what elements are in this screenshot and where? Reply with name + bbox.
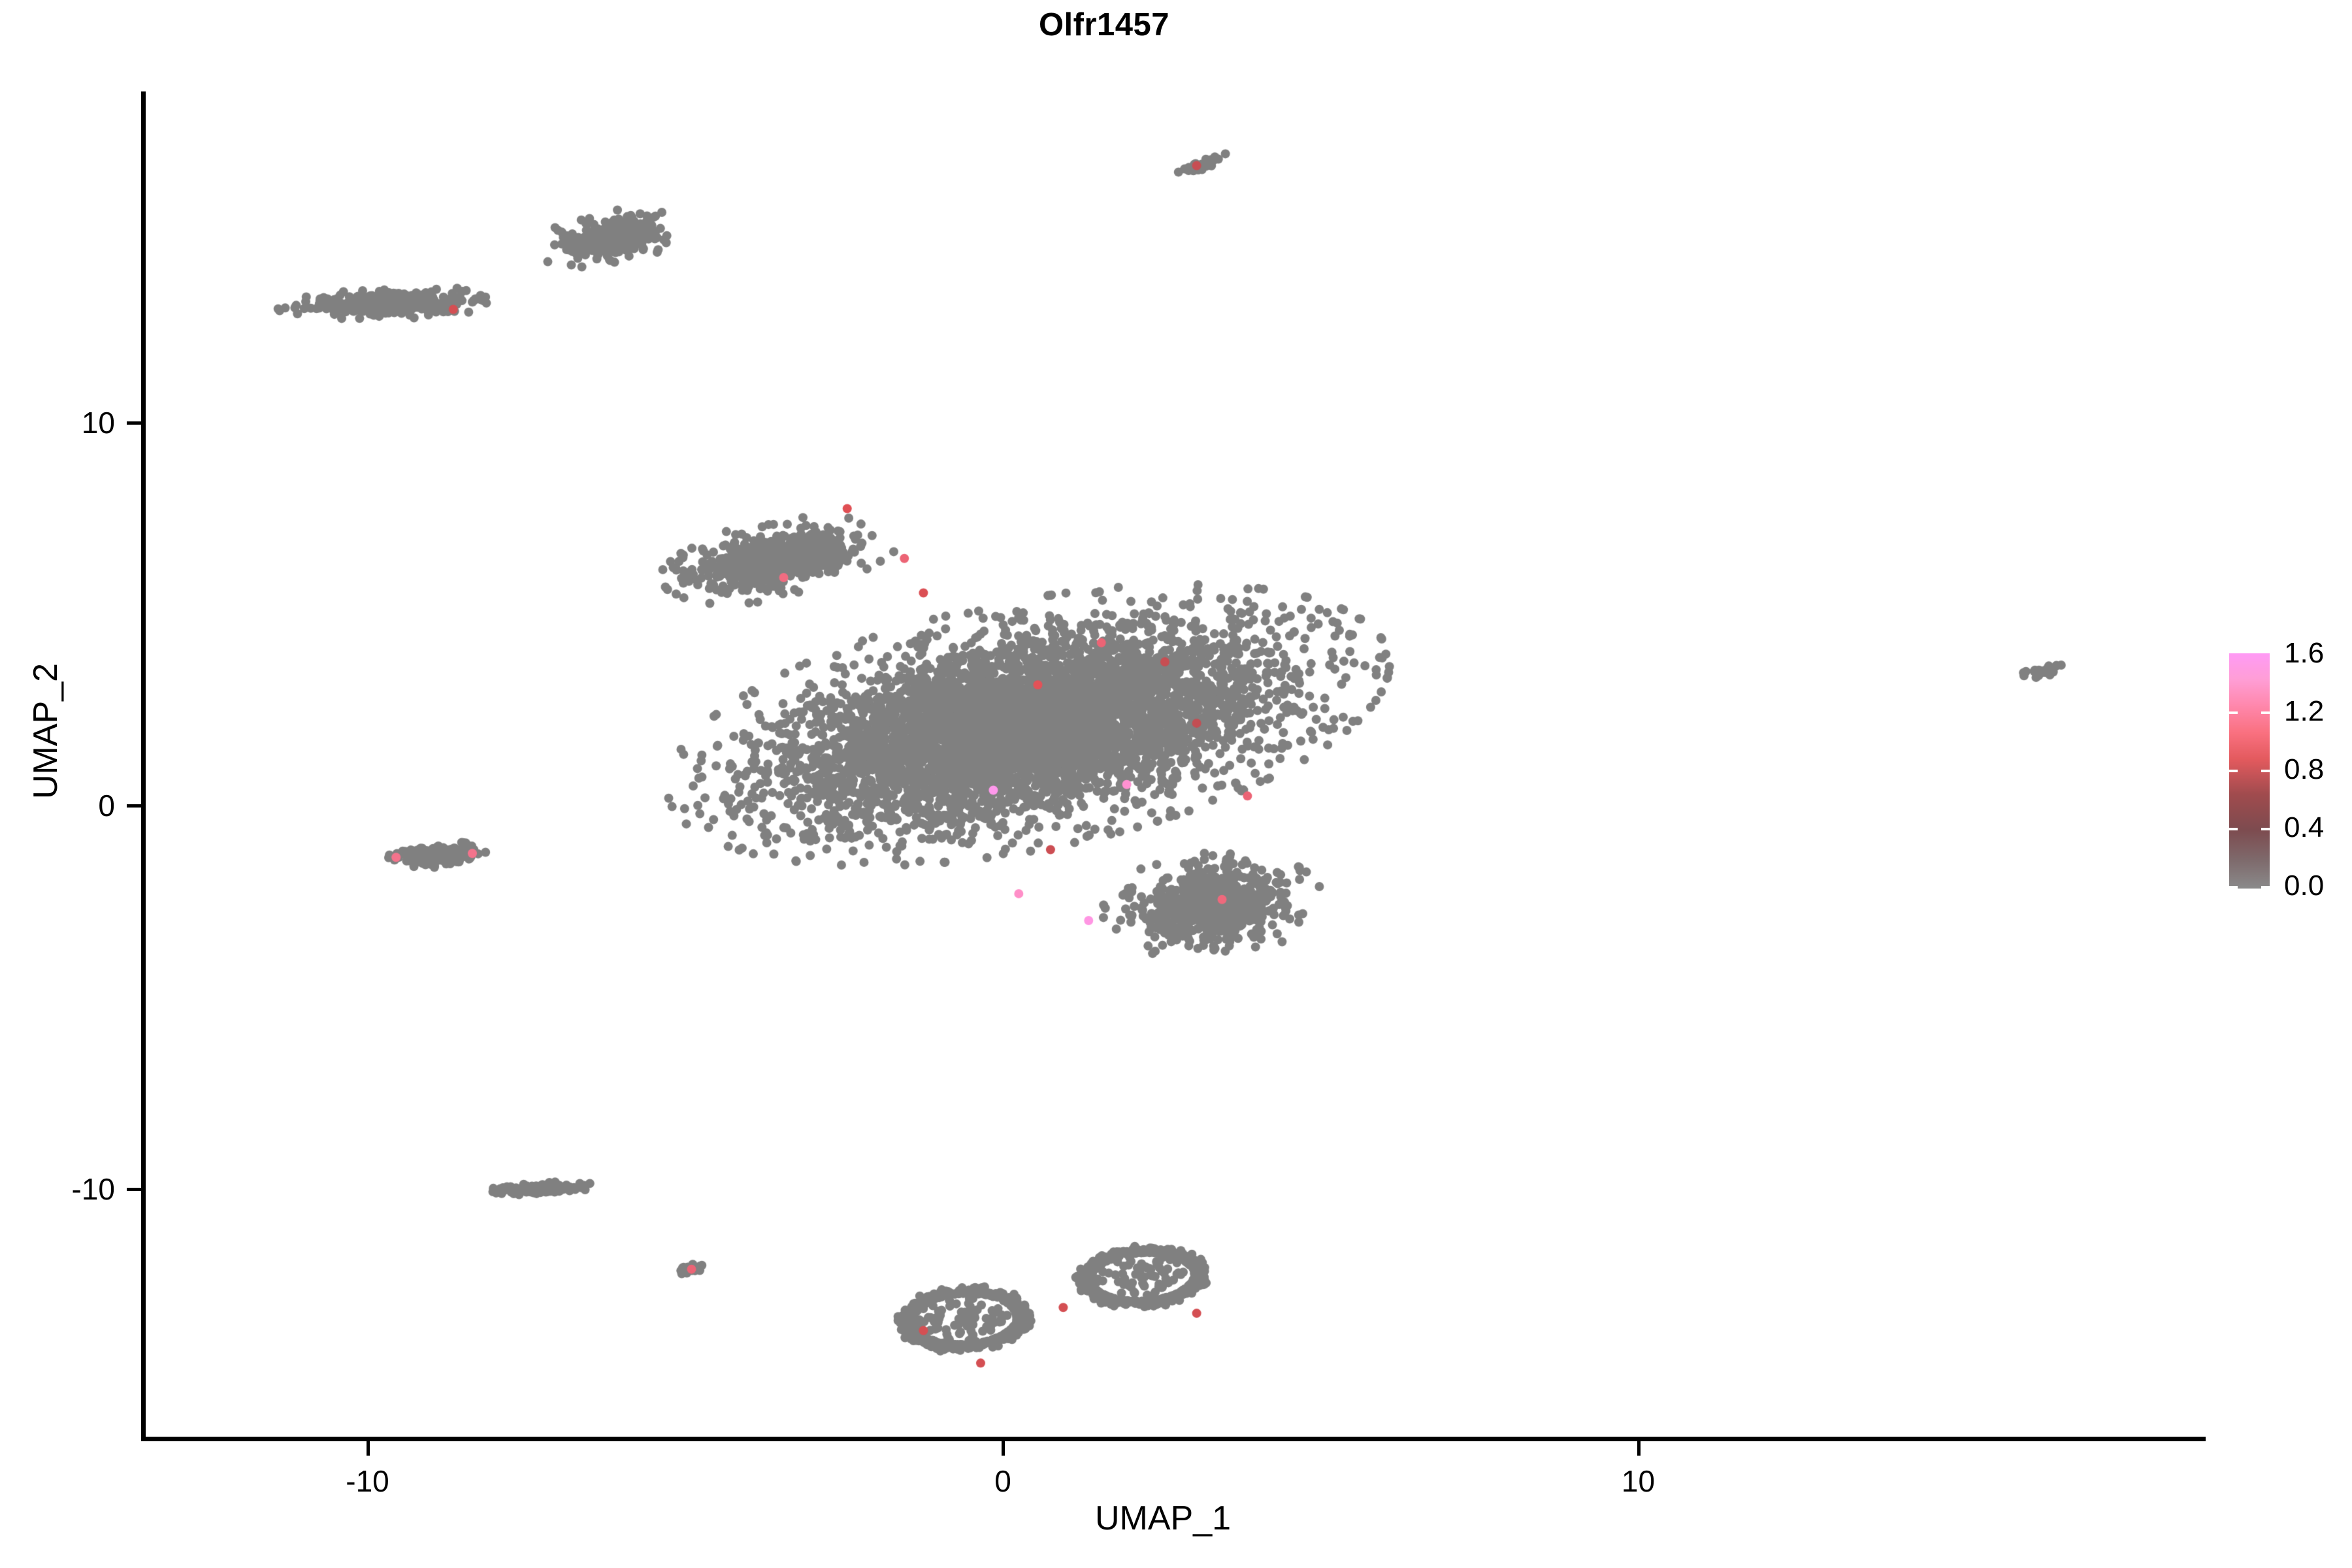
legend-tick-mark [2229,711,2238,714]
legend-label: 1.6 [2284,639,2324,668]
y-axis-line [141,91,146,1441]
legend-tick-mark [2261,886,2270,889]
legend-tick-mark [2229,828,2238,830]
scatter-points-layer[interactable] [144,91,2202,1439]
y-tick-label: 10 [10,408,115,438]
legend-label: 0.8 [2284,755,2324,784]
legend-label: 0.4 [2284,813,2324,842]
x-tick-label: 10 [1573,1466,1704,1496]
legend-tick-mark [2229,770,2238,772]
y-tick-mark [127,1188,141,1191]
color-legend[interactable]: 1.61.20.80.40.0 [2229,653,2347,895]
x-tick-mark [1002,1441,1005,1456]
legend-tick-mark [2229,886,2238,889]
legend-tick-mark [2261,770,2270,772]
y-tick-mark [127,804,141,808]
x-tick-mark [1637,1441,1641,1456]
feature-plot-figure: Olfr1457 100-10 -10010 UMAP_1 UMAP_2 1.6… [0,0,2352,1568]
scatter-plot-panel[interactable] [144,91,2202,1439]
legend-tick-mark [2261,828,2270,830]
legend-label: 0.0 [2284,872,2324,900]
legend-label: 1.2 [2284,697,2324,726]
page-title: Olfr1457 [0,5,2208,44]
y-tick-mark [127,421,141,425]
x-axis-title: UMAP_1 [1032,1499,1294,1537]
y-axis-title: UMAP_2 [27,568,65,894]
x-tick-label: 0 [938,1466,1068,1496]
x-axis-line [141,1437,2206,1441]
legend-tick-mark [2261,711,2270,714]
x-tick-mark [367,1441,370,1456]
x-tick-label: -10 [302,1466,433,1496]
y-tick-label: -10 [10,1174,115,1204]
